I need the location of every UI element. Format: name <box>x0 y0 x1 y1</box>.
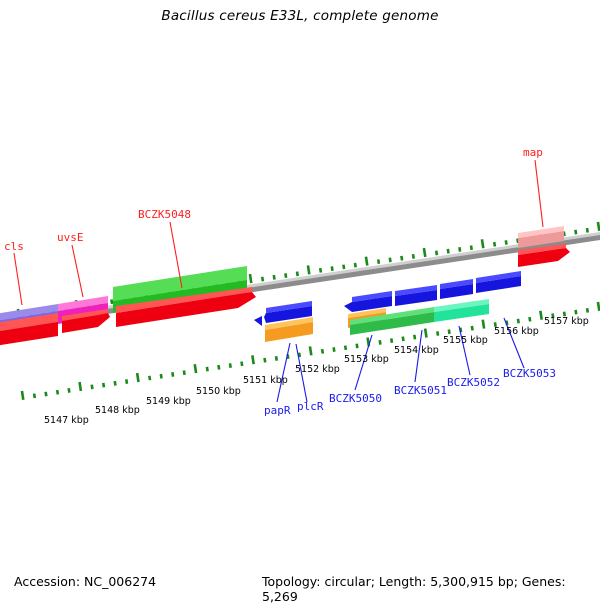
scale-label-5150-kbp: 5150 kbp <box>196 386 241 397</box>
scale-tick-lower-major <box>539 311 543 320</box>
scale-tick-lower-major <box>309 346 313 355</box>
scale-label-5151-kbp: 5151 kbp <box>243 375 288 386</box>
scale-tick-lower-minor <box>413 335 416 340</box>
gene-label-papR: papR <box>264 404 291 417</box>
scale-tick-lower-minor <box>390 338 393 343</box>
scale-label-5157-kbp: 5157 kbp <box>544 316 589 327</box>
scale-tick-lower-major <box>21 391 25 400</box>
scale-label-5152-kbp: 5152 kbp <box>295 364 340 375</box>
scale-tick-upper-minor <box>389 257 392 262</box>
accession-text: Accession: NC_006274 <box>14 574 156 589</box>
gene-label-map: map <box>523 146 543 159</box>
scale-tick-lower-minor <box>67 388 70 393</box>
scale-label-5155-kbp: 5155 kbp <box>443 335 488 346</box>
genome-track-svg: cls uvsE BCZK5048 map papR plcR BCZK5050… <box>0 0 600 600</box>
scale-tick-lower-minor <box>528 317 531 322</box>
leader-line-papR <box>277 343 290 402</box>
scale-tick-upper-minor <box>296 271 299 276</box>
gene-label-BCZK5051: BCZK5051 <box>394 384 447 397</box>
gene-cluster-papR-plcR <box>254 301 313 342</box>
scale-tick-upper-minor <box>435 251 438 256</box>
scale-tick-lower-minor <box>586 308 589 313</box>
scale-tick-upper-major <box>307 265 311 274</box>
scale-tick-upper-minor <box>458 247 461 252</box>
scale-tick-upper-minor <box>284 273 287 278</box>
gene-label-BCZK5050: BCZK5050 <box>329 392 382 405</box>
gene-arrowhead <box>254 316 262 326</box>
gene-BCZK5052-blue[interactable] <box>440 279 473 299</box>
scale-tick-upper-minor <box>586 228 589 233</box>
scale-tick-lower-minor <box>113 381 116 386</box>
scale-label-5149-kbp: 5149 kbp <box>146 396 191 407</box>
leader-line-BCZK5052 <box>459 326 470 375</box>
scale-label-5153-kbp: 5153 kbp <box>344 354 389 365</box>
scale-tick-upper-minor <box>447 249 450 254</box>
scale-label-5156-kbp: 5156 kbp <box>494 326 539 337</box>
scale-tick-upper-minor <box>493 242 496 247</box>
leader-line-map <box>535 160 543 227</box>
scale-tick-upper-minor <box>377 259 380 264</box>
gene-BCZK5051-blue[interactable] <box>395 285 437 306</box>
gene-BCZK5053-blue[interactable] <box>476 271 521 293</box>
scale-tick-upper-minor <box>342 264 345 269</box>
scale-label-5148-kbp: 5148 kbp <box>95 405 140 416</box>
genome-map-view: Bacillus cereus E33L, complete genome <box>0 0 600 600</box>
scale-tick-lower-minor <box>275 356 278 361</box>
scale-tick-lower-minor <box>436 331 439 336</box>
scale-tick-lower-major <box>78 382 82 391</box>
scale-tick-upper-major <box>423 248 427 257</box>
gene-BCZK5052-teal[interactable] <box>434 299 489 322</box>
scale-tick-upper-minor <box>354 263 357 268</box>
scale-tick-lower-minor <box>160 374 163 379</box>
scale-tick-lower-minor <box>33 393 36 398</box>
scale-tick-upper-minor <box>412 254 415 259</box>
scale-tick-lower-minor <box>102 383 105 388</box>
scale-tick-lower-minor <box>229 363 232 368</box>
scale-tick-lower-minor <box>217 365 220 370</box>
gene-label-BCZK5048: BCZK5048 <box>138 208 191 221</box>
scale-label-5147-kbp: 5147 kbp <box>44 415 89 426</box>
scale-tick-lower-minor <box>125 379 128 384</box>
scale-tick-lower-major <box>251 355 255 364</box>
scale-tick-upper-minor <box>400 256 403 261</box>
gene-label-BCZK5053: BCZK5053 <box>503 367 556 380</box>
gene-label-uvsE: uvsE <box>57 231 84 244</box>
scale-tick-upper-minor <box>319 268 322 273</box>
scale-tick-upper-major <box>365 257 369 266</box>
scale-tick-lower-minor <box>574 310 577 315</box>
scale-tick-lower-minor <box>56 390 59 395</box>
gene-cluster-left <box>0 266 256 347</box>
scale-tick-lower-minor <box>332 347 335 352</box>
scale-tick-lower-major <box>193 364 197 373</box>
gene-label-cls: cls <box>4 240 24 253</box>
scale-tick-lower-minor <box>448 329 451 334</box>
scale-tick-upper-minor <box>574 230 577 235</box>
scale-tick-upper-minor <box>331 266 334 271</box>
gene-label-BCZK5052: BCZK5052 <box>447 376 500 389</box>
scale-tick-upper-minor <box>110 299 113 304</box>
scale-tick-lower-minor <box>44 392 47 397</box>
leader-line-cls <box>14 253 22 305</box>
scale-tick-lower-minor <box>355 344 358 349</box>
scale-tick-lower-minor <box>344 345 347 350</box>
scale-tick-upper-major <box>481 239 485 248</box>
scale-tick-upper-minor <box>505 240 508 245</box>
scale-tick-lower-minor <box>517 319 520 324</box>
gene-label-plcR: plcR <box>297 400 324 413</box>
scale-tick-lower-major <box>136 373 140 382</box>
scale-tick-lower-major <box>481 320 485 329</box>
scale-tick-lower-minor <box>206 367 209 372</box>
scale-tick-lower-minor <box>321 349 324 354</box>
scale-tick-upper-major <box>249 274 253 283</box>
scale-tick-lower-minor <box>148 376 151 381</box>
scale-tick-upper-minor <box>261 277 264 282</box>
scale-tick-lower-minor <box>471 326 474 331</box>
scale-tick-upper-minor <box>273 275 276 280</box>
scale-tick-lower-minor <box>171 372 174 377</box>
scale-tick-lower-minor <box>263 358 266 363</box>
scale-tick-lower-major <box>424 328 428 337</box>
scale-tick-lower-minor <box>90 384 93 389</box>
scale-tick-lower-minor <box>378 340 381 345</box>
gene-name-labels-above: cls uvsE BCZK5048 map <box>4 146 543 253</box>
scale-tick-upper-minor <box>470 245 473 250</box>
scale-tick-lower-minor <box>240 361 243 366</box>
scale-label-5154-kbp: 5154 kbp <box>394 345 439 356</box>
scale-tick-lower-minor <box>183 370 186 375</box>
gene-papR-blue-small[interactable] <box>254 316 262 326</box>
leader-line-uvsE <box>72 245 83 297</box>
scale-tick-lower-minor <box>401 336 404 341</box>
